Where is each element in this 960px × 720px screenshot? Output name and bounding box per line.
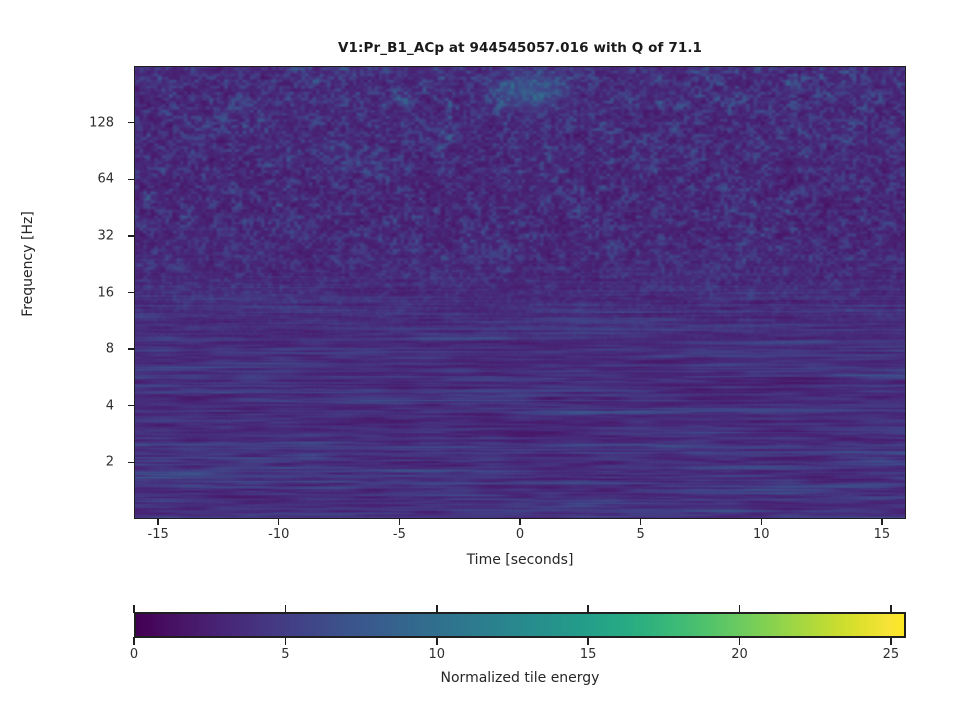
colorbar-tick-mark [587, 637, 589, 645]
y-tick-mark [128, 348, 134, 349]
x-tick-label: 0 [516, 527, 524, 542]
y-tick-mark [128, 292, 134, 293]
y-axis-label: Frequency [Hz] [20, 174, 36, 354]
colorbar-tick-label: 15 [580, 647, 597, 662]
colorbar-tick-label: 25 [883, 647, 900, 662]
y-tick-label: 32 [54, 228, 114, 243]
y-tick-label: 16 [54, 285, 114, 300]
y-tick-mark [128, 405, 134, 406]
x-tick-mark [761, 519, 762, 525]
colorbar-tick-mark [133, 637, 135, 645]
colorbar-tick-mark [890, 637, 892, 645]
y-tick-label: 64 [54, 172, 114, 187]
colorbar-tick-mark [890, 605, 892, 613]
x-tick-mark [640, 519, 641, 525]
x-tick-mark [881, 519, 882, 525]
colorbar-tick-label: 10 [428, 647, 445, 662]
y-tick-mark [128, 179, 134, 180]
y-tick-mark [128, 122, 134, 123]
colorbar-canvas [136, 614, 904, 636]
colorbar-tick-mark [436, 605, 438, 613]
y-axis-ticks: 248163264128 [60, 0, 128, 720]
colorbar-tick-label: 5 [281, 647, 289, 662]
x-tick-label: -10 [268, 527, 289, 542]
x-tick-mark [157, 519, 158, 525]
y-tick-mark [128, 462, 134, 463]
colorbar-tick-mark [587, 605, 589, 613]
y-tick-label: 2 [54, 455, 114, 470]
colorbar-label: Normalized tile energy [134, 670, 906, 686]
colorbar-tick-mark [285, 605, 287, 613]
x-tick-label: -15 [148, 527, 169, 542]
y-tick-label: 128 [54, 115, 114, 130]
colorbar-tick-mark [285, 637, 287, 645]
x-tick-label: 15 [874, 527, 891, 542]
colorbar-tick-mark [739, 637, 741, 645]
spectrogram-image[interactable] [134, 66, 906, 519]
colorbar-tick-mark [436, 637, 438, 645]
x-tick-label: 10 [753, 527, 770, 542]
page-title: V1:Pr_B1_ACp at 944545057.016 with Q of … [134, 40, 906, 56]
colorbar-tick-mark [133, 605, 135, 613]
x-tick-label: 5 [636, 527, 644, 542]
y-tick-label: 4 [54, 398, 114, 413]
x-tick-mark [399, 519, 400, 525]
x-tick-label: -5 [393, 527, 406, 542]
colorbar-tick-label: 20 [731, 647, 748, 662]
x-tick-mark [278, 519, 279, 525]
spectrogram-figure: V1:Pr_B1_ACp at 944545057.016 with Q of … [0, 0, 960, 720]
x-tick-mark [519, 519, 520, 525]
colorbar-tick-label: 0 [130, 647, 138, 662]
colorbar[interactable] [134, 612, 906, 638]
colorbar-gradient[interactable] [134, 612, 906, 638]
spectrogram-axes[interactable] [134, 66, 906, 519]
colorbar-tick-mark [739, 605, 741, 613]
y-tick-mark [128, 235, 134, 236]
y-tick-label: 8 [54, 342, 114, 357]
x-axis-label: Time [seconds] [134, 552, 906, 568]
